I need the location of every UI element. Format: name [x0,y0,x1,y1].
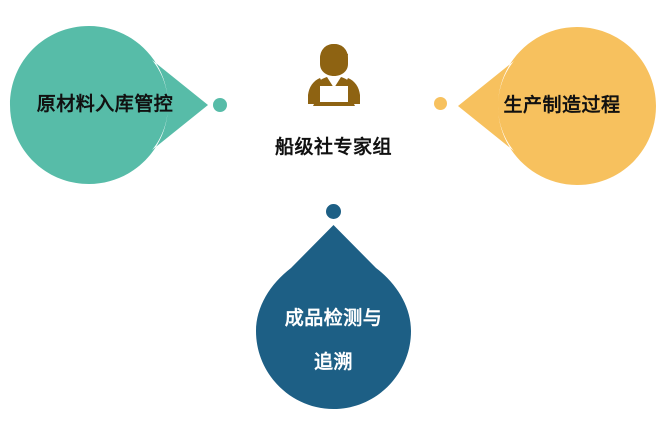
droplet-shape-raw-material [10,26,208,184]
connector-dot-inspection [326,204,341,219]
node-raw-material[interactable]: 原材料入库管控 [10,26,208,184]
person-at-laptop-icon [303,42,365,108]
node-inspection[interactable]: 成品检测与 追溯 [256,225,411,409]
expert-group[interactable]: 船级社专家组 [256,42,411,172]
expert-group-label: 船级社专家组 [275,132,392,159]
connector-dot-production [434,97,447,110]
diagram-canvas: 原材料入库管控 船级社专家组 生产制造过程 [0,0,666,427]
droplet-shape-inspection [256,225,411,409]
node-production[interactable]: 生产制造过程 [458,27,656,185]
connector-dot-raw-material [213,98,227,112]
droplet-shape-production [458,27,656,185]
